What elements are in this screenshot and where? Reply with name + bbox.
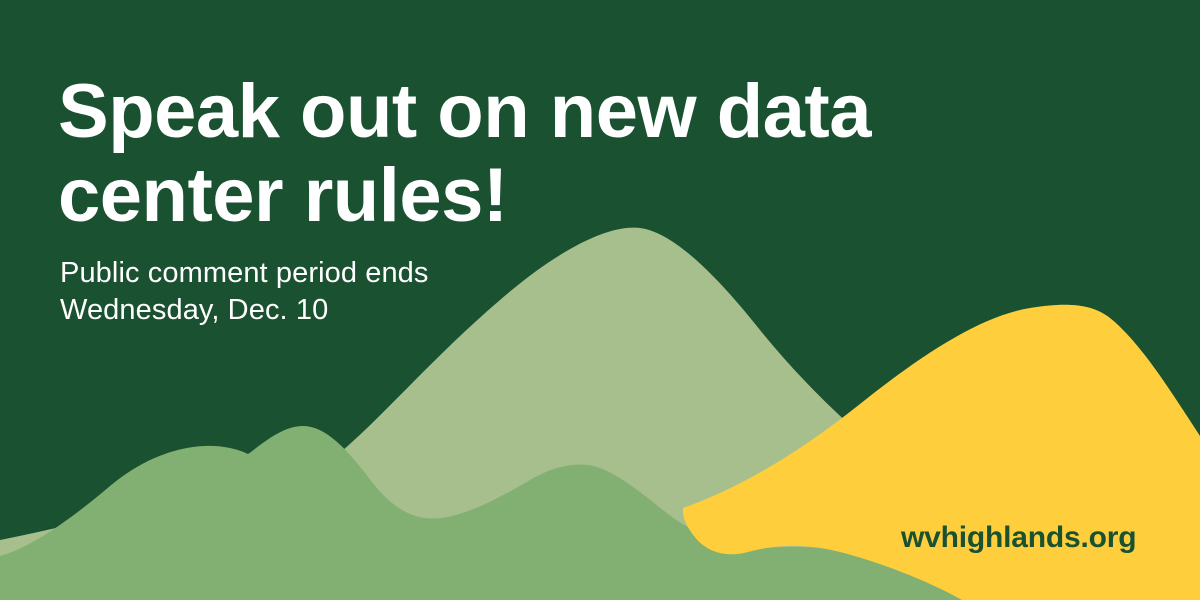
page-title: Speak out on new data center rules! <box>58 70 1038 238</box>
promo-banner: Speak out on new data center rules! Publ… <box>0 0 1200 600</box>
website-url[interactable]: wvhighlands.org <box>901 521 1136 555</box>
deadline-subtitle: Public comment period ends Wednesday, De… <box>60 255 680 329</box>
